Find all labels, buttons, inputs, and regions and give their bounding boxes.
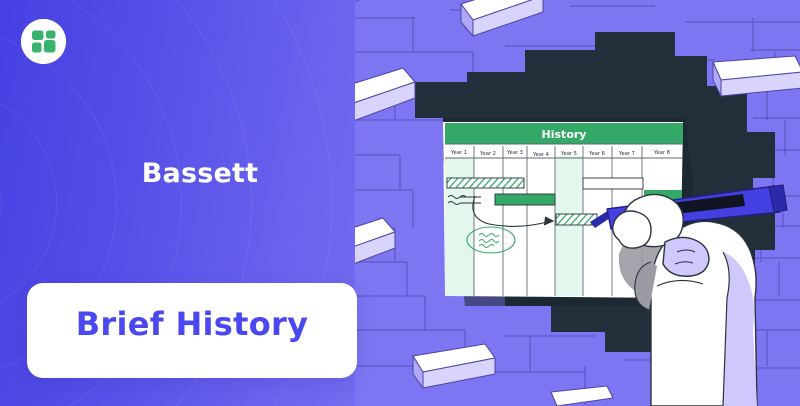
bar-solid-1 [495, 194, 555, 205]
page-title: Brief History [27, 283, 357, 365]
col-year-1: Year 1 [450, 150, 467, 156]
col-year-7: Year 7 [618, 151, 635, 157]
col-year-4: Year 4 [532, 152, 550, 158]
brick-right-upper [713, 56, 800, 96]
four-squares-grid-icon [21, 19, 66, 64]
col-year-3: Year 3 [506, 150, 523, 156]
poster-canvas: History Year 1 Year 2 Year 3 Year 4 Year… [0, 0, 800, 406]
app-logo[interactable] [21, 19, 66, 64]
wall-break-illustration: History Year 1 Year 2 Year 3 Year 4 Year… [355, 0, 800, 406]
col-year-6: Year 6 [588, 151, 605, 157]
bar-hatched-2 [556, 214, 597, 225]
col-year-8: Year 8 [653, 150, 670, 156]
bar-outline-1 [583, 178, 643, 189]
brand-overlay: Bassett Brief History [0, 0, 420, 406]
col-year-5: Year 5 [560, 151, 577, 157]
table-title: History [542, 128, 587, 141]
bar-hatched-1 [447, 178, 524, 188]
col-year-2: Year 2 [479, 151, 496, 157]
title-card[interactable]: Brief History [27, 283, 357, 378]
brand-name: Bassett [0, 158, 400, 189]
